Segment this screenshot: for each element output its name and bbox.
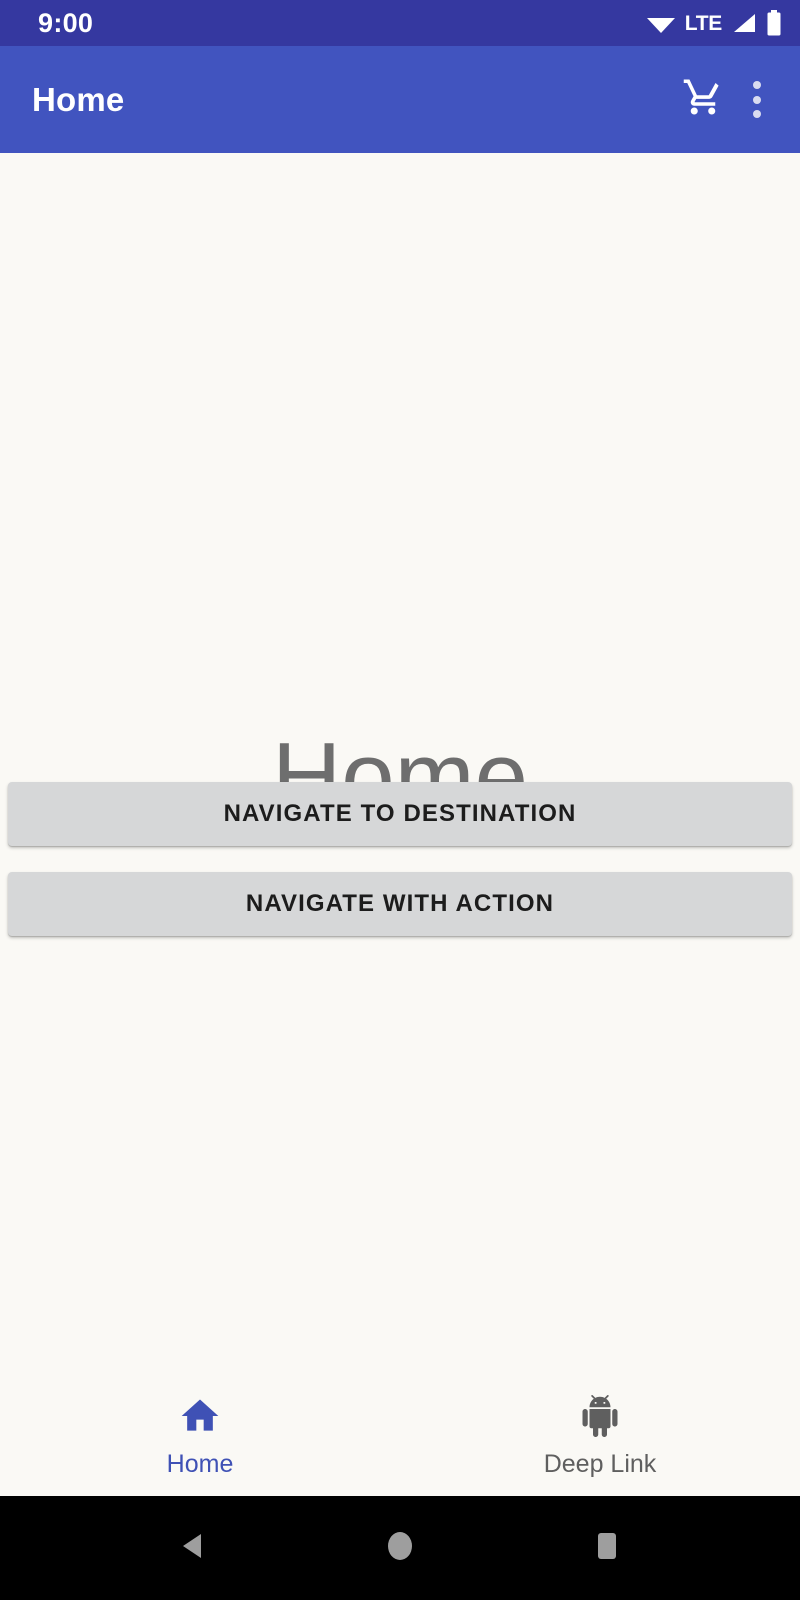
status-bar-clock: 9:00: [38, 10, 93, 37]
recents-button[interactable]: [567, 1508, 647, 1588]
status-bar-icons: LTE: [646, 10, 782, 36]
android-device-screen: 9:00 LTE Home: [0, 0, 800, 1600]
status-bar: 9:00 LTE: [0, 0, 800, 46]
overflow-dot: [753, 81, 761, 89]
bottom-nav-item-deep-link[interactable]: Deep Link: [400, 1394, 800, 1477]
action-button-stack: NAVIGATE TO DESTINATION NAVIGATE WITH AC…: [0, 782, 800, 936]
back-button[interactable]: [153, 1508, 233, 1588]
bottom-nav-item-home[interactable]: Home: [0, 1394, 400, 1477]
bottom-nav-label-home: Home: [167, 1452, 234, 1477]
cart-button[interactable]: [672, 69, 734, 131]
app-bar: Home: [0, 46, 800, 153]
wifi-icon: [646, 11, 676, 35]
home-circle-icon: [383, 1529, 417, 1568]
android-robot-icon: [579, 1394, 621, 1443]
navigate-to-destination-button[interactable]: NAVIGATE TO DESTINATION: [8, 782, 792, 846]
recents-square-icon: [590, 1529, 624, 1568]
navigate-with-action-button[interactable]: NAVIGATE WITH ACTION: [8, 872, 792, 936]
main-content: Home NAVIGATE TO DESTINATION NAVIGATE WI…: [0, 153, 800, 1378]
bottom-navigation-bar: Home Deep Link: [0, 1378, 800, 1496]
system-navigation-bar: [0, 1496, 800, 1600]
overflow-menu-button[interactable]: [734, 69, 780, 131]
home-icon: [178, 1394, 222, 1443]
overflow-menu-icon: [753, 78, 761, 121]
overflow-dot: [753, 110, 761, 118]
overflow-dot: [753, 96, 761, 104]
back-triangle-icon: [176, 1529, 210, 1568]
cart-icon: [682, 76, 724, 123]
home-button[interactable]: [360, 1508, 440, 1588]
bottom-nav-label-deep-link: Deep Link: [544, 1452, 657, 1477]
network-type-label: LTE: [685, 13, 722, 34]
battery-icon: [766, 10, 782, 36]
page-title: Home: [32, 81, 672, 119]
signal-icon: [731, 11, 757, 35]
